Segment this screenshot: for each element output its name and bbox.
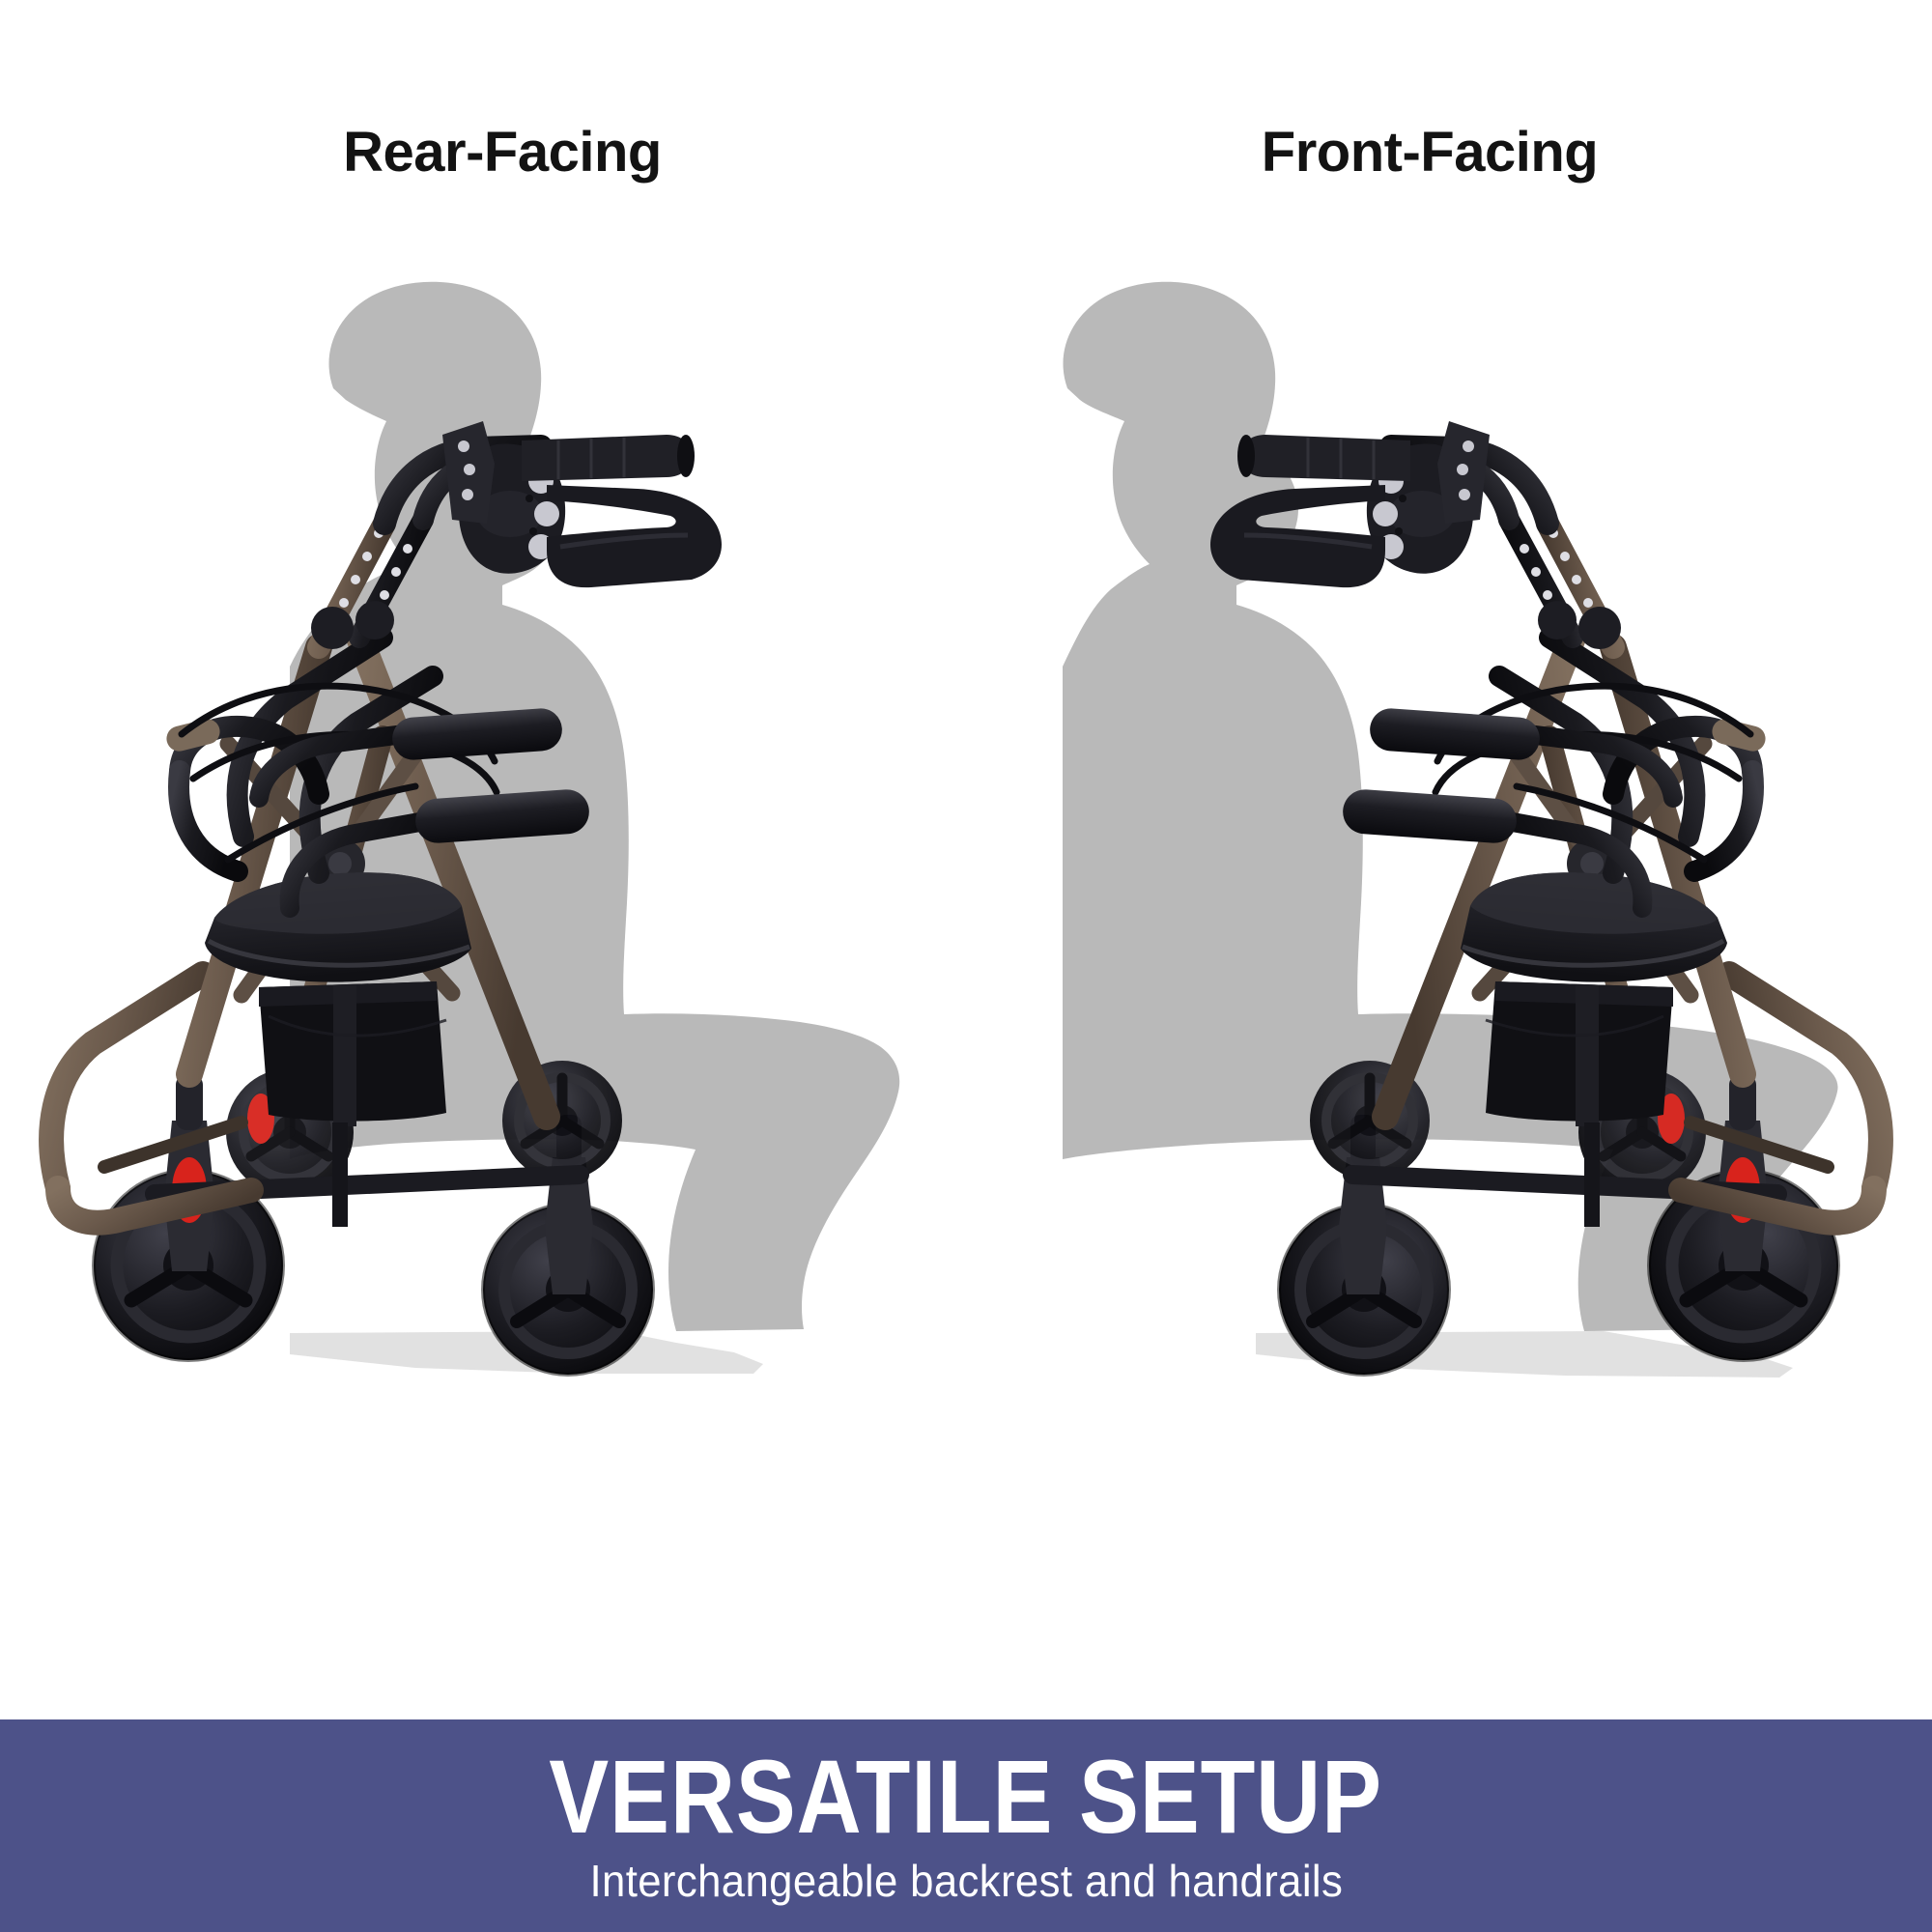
brake-lever	[547, 485, 722, 587]
banner-title: VERSATILE SETUP	[550, 1745, 1383, 1849]
product-view-rear-facing	[0, 145, 966, 1719]
infographic-stage: Rear-Facing Front-Facing	[0, 0, 1932, 1932]
feature-banner: VERSATILE SETUP Interchangeable backrest…	[0, 1719, 1932, 1932]
bag-strap	[333, 985, 356, 1126]
pad-upper	[1369, 707, 1542, 761]
handle-grip	[522, 435, 695, 481]
bag-strap	[1576, 985, 1599, 1126]
pad-lower	[1342, 788, 1519, 844]
handle-grip	[1237, 435, 1410, 481]
front-facing-artwork	[966, 145, 1932, 1719]
height-adjust-tube	[1509, 520, 1621, 649]
banner-subtitle: Interchangeable backrest and handrails	[589, 1855, 1343, 1907]
product-view-front-facing	[966, 145, 1932, 1719]
rear-facing-artwork	[0, 145, 966, 1719]
